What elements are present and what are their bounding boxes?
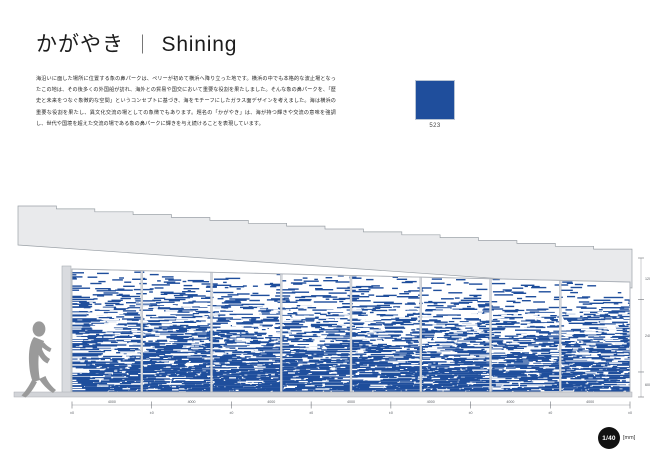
page-title-english: Shining bbox=[162, 33, 238, 57]
scale-indicator: 1/40 [mm] bbox=[598, 427, 635, 449]
elevation-drawing: ±0±0±0±0±0±0±0±0400040004000400040004000… bbox=[0, 196, 650, 426]
svg-text:±0: ±0 bbox=[548, 411, 552, 415]
scale-ratio: 1/40 bbox=[598, 427, 620, 449]
svg-text:4000: 4000 bbox=[188, 400, 196, 404]
svg-text:4000: 4000 bbox=[267, 400, 275, 404]
svg-text:±0: ±0 bbox=[309, 411, 313, 415]
ground-plinth bbox=[14, 392, 632, 397]
svg-text:4000: 4000 bbox=[427, 400, 435, 404]
svg-text:±0: ±0 bbox=[628, 411, 632, 415]
horizontal-dimension-line: ±0±0±0±0±0±0±0±0400040004000400040004000… bbox=[70, 400, 632, 415]
svg-text:±0: ±0 bbox=[389, 411, 393, 415]
human-scale-figure bbox=[22, 321, 57, 397]
page-title: かがやき ｜ Shining bbox=[36, 28, 237, 58]
svg-text:±0: ±0 bbox=[469, 411, 473, 415]
color-swatch-block: 523 bbox=[412, 80, 458, 129]
svg-text:4000: 4000 bbox=[108, 400, 116, 404]
description-text: 海沿いに面した場所に位置する象の鼻パークは、ペリーが初めて横浜へ降り立った地です… bbox=[36, 74, 336, 130]
svg-text:4000: 4000 bbox=[347, 400, 355, 404]
vertical-dimension-line: 12002400600 bbox=[638, 258, 650, 397]
svg-text:600: 600 bbox=[645, 383, 650, 387]
svg-text:4000: 4000 bbox=[586, 400, 594, 404]
color-swatch-label: 523 bbox=[412, 123, 458, 129]
page-title-japanese: かがやき bbox=[36, 28, 124, 58]
svg-text:1200: 1200 bbox=[645, 277, 650, 281]
scale-unit: [mm] bbox=[623, 435, 635, 441]
glass-facade bbox=[72, 269, 630, 405]
end-post-left bbox=[62, 266, 71, 393]
svg-text:±0: ±0 bbox=[70, 411, 74, 415]
svg-text:±0: ±0 bbox=[229, 411, 233, 415]
description-paragraph: 海沿いに面した場所に位置する象の鼻パークは、ペリーが初めて横浜へ降り立った地です… bbox=[36, 74, 336, 130]
title-separator: ｜ bbox=[124, 30, 162, 57]
svg-text:±0: ±0 bbox=[150, 411, 154, 415]
color-swatch bbox=[415, 80, 455, 120]
svg-text:2400: 2400 bbox=[645, 334, 650, 338]
presentation-board: かがやき ｜ Shining 海沿いに面した場所に位置する象の鼻パークは、ペリー… bbox=[0, 0, 650, 462]
svg-text:4000: 4000 bbox=[506, 400, 514, 404]
